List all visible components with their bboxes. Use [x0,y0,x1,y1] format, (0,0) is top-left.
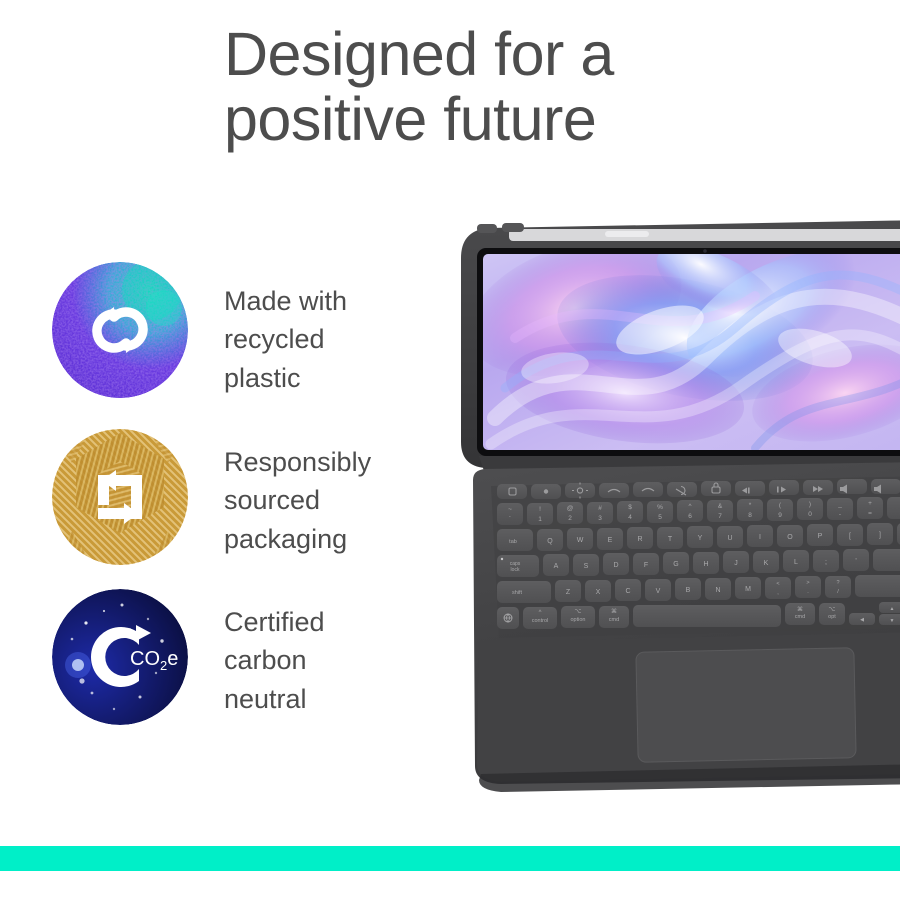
svg-text:Y: Y [698,535,703,542]
svg-text:4: 4 [628,514,632,521]
svg-text:cmd: cmd [795,614,805,620]
svg-text:+: + [868,500,872,507]
svg-text:▲: ▲ [890,606,895,612]
svg-text:%: % [657,504,663,511]
svg-text:G: G [673,561,678,568]
svg-text:O: O [787,534,793,541]
co2e-label: CO [130,648,160,670]
carbon-neutral-badge-icon: CO2e [52,589,188,725]
svg-text:3: 3 [598,515,602,522]
key-mute [837,479,867,494]
sustainability-feature-list: Made with recycled plastic [52,262,452,756]
svg-text:=: = [868,510,872,517]
tablet-with-keyboard-case: ~` !1 @2 #3 $4 %5 ^6 &7 *8 (9 )0 _- += [455,218,900,798]
svg-text:`: ` [509,516,511,523]
svg-text:!: ! [539,506,541,513]
recycled-plastic-badge-icon [52,262,188,398]
svg-text:$: $ [628,504,632,511]
svg-text:5: 5 [658,514,662,521]
key-rewind [735,481,765,496]
feature-item-carbon-neutral: CO2e Certified carbon neutral [52,589,452,756]
screen-wallpaper [455,218,900,459]
svg-text:V: V [656,588,661,595]
responsible-packaging-badge-icon [52,429,188,565]
svg-text:⌘: ⌘ [611,608,617,615]
svg-text:S: S [584,563,589,570]
svg-text:P: P [818,533,823,540]
headline-line-1: Designed for a [224,20,614,88]
svg-text:control: control [532,618,549,624]
svg-text:◀: ◀ [860,617,864,623]
key-spacebar [633,605,781,627]
svg-text:W: W [577,537,584,544]
svg-text:R: R [637,536,642,543]
svg-text:): ) [809,501,811,508]
svg-text:2: 2 [568,515,572,522]
svg-text:>: > [806,580,809,586]
accent-bar [0,846,900,871]
key-home [497,484,527,499]
svg-text:⌘: ⌘ [797,606,803,613]
svg-text:[: [ [849,533,851,540]
key-volume-down [871,479,900,494]
feature-3-line-3: neutral [224,684,307,714]
svg-text:option: option [571,617,586,623]
volume-up-button [477,224,497,233]
svg-text:0: 0 [808,511,812,518]
svg-text:U: U [727,535,732,542]
svg-text:▼: ▼ [890,618,895,624]
feature-label-carbon-neutral: Certified carbon neutral [224,603,454,718]
key-kb-light-down [599,483,629,498]
feature-3-line-1: Certified [224,607,325,637]
svg-text:opt: opt [828,614,836,620]
feature-item-recycled-plastic: Made with recycled plastic [52,262,452,429]
svg-text:7: 7 [718,513,722,520]
svg-text:T: T [668,536,673,543]
svg-text:⌥: ⌥ [829,607,836,613]
svg-text:-: - [839,511,841,518]
svg-text:X: X [596,589,601,596]
feature-1-line-2: recycled [224,324,325,354]
co2e-suffix: e [167,648,178,670]
key-kb-light-up [633,482,663,497]
svg-text:⌥: ⌥ [575,609,582,615]
svg-text:H: H [703,561,708,568]
svg-text:~: ~ [508,506,512,513]
svg-text:D: D [613,562,618,569]
svg-text:]: ] [879,532,881,539]
svg-text:M: M [745,586,751,593]
svg-text:^: ^ [539,610,542,616]
feature-3-line-2: carbon [224,645,307,675]
svg-text:&: & [718,503,723,510]
front-camera [703,249,707,253]
svg-text:A: A [554,563,559,570]
marketing-image: Designed for a positive future [0,0,900,900]
svg-text:L: L [794,559,798,566]
svg-text:cmd: cmd [609,617,619,623]
feature-2-line-1: Responsibly [224,447,371,477]
svg-text:B: B [686,587,691,594]
svg-text:CO2e: CO2e [130,648,178,673]
svg-text:Q: Q [547,538,553,545]
feature-1-line-3: plastic [224,363,301,393]
svg-text:F: F [644,562,648,569]
svg-text:?: ? [836,580,839,586]
svg-text:1: 1 [538,516,542,523]
svg-text:6: 6 [688,513,692,520]
feature-label-recycled-plastic: Made with recycled plastic [224,282,454,397]
trackpad [636,648,856,763]
svg-text:C: C [625,588,630,595]
svg-text:<: < [776,581,779,587]
svg-text:K: K [764,560,769,567]
feature-label-responsible-packaging: Responsibly sourced packaging [224,443,454,558]
feature-1-line-1: Made with [224,286,347,316]
page-title: Designed for a positive future [224,22,784,151]
key-brightness-up [565,483,595,498]
svg-text:Z: Z [566,589,571,596]
feature-2-line-2: sourced [224,485,320,515]
headline-line-2: positive future [224,87,784,152]
svg-text:N: N [715,587,720,594]
svg-text:;: ; [825,559,827,566]
svg-text:#: # [598,505,602,512]
svg-text:tab: tab [509,539,517,545]
svg-text:': ' [855,558,856,565]
svg-text:9: 9 [778,512,782,519]
svg-text:shift: shift [512,590,523,596]
svg-text:@: @ [567,505,574,512]
feature-2-line-3: packaging [224,524,347,554]
svg-text:J: J [734,560,738,567]
svg-text:E: E [608,537,613,544]
svg-text:8: 8 [748,512,752,519]
key-play-pause [769,480,799,495]
co2e-subscript: 2 [160,658,167,673]
svg-text:_: _ [837,501,842,508]
svg-text:I: I [759,534,761,541]
tablet-chassis-edge [509,229,900,241]
volume-down-button [502,223,524,232]
feature-item-responsible-packaging: Responsibly sourced packaging [52,429,452,589]
svg-text:lock: lock [511,567,520,573]
